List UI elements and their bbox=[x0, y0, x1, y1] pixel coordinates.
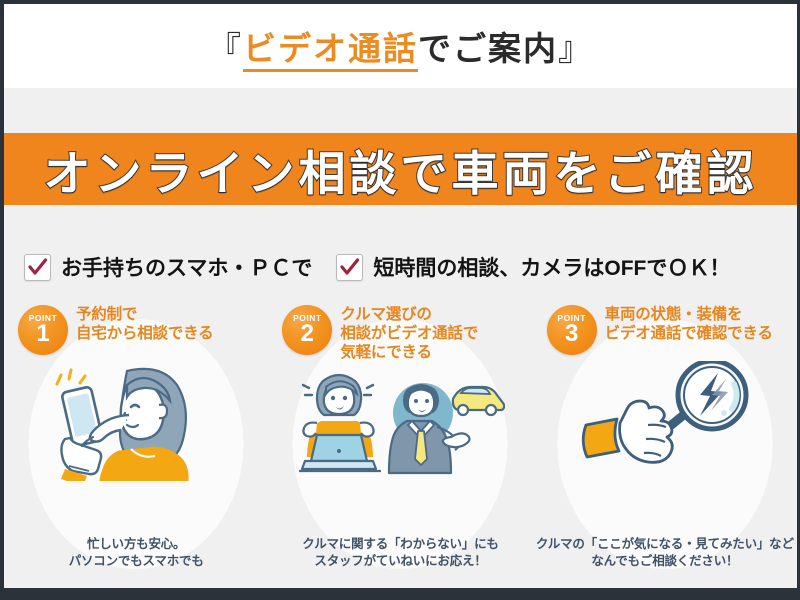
point-column-3: POINT 3 車両の状態・装備を ビデオ通話で確認できる bbox=[533, 303, 797, 573]
check-icon bbox=[339, 257, 360, 278]
check-label-1: お手持ちのスマホ・ＰＣで bbox=[61, 252, 312, 282]
headline-bar: オンライン相談で車両をご確認 bbox=[4, 133, 797, 205]
point-head-2: POINT 2 クルマ選びの 相談がビデオ通話で 気軽にできる bbox=[282, 305, 478, 363]
point-title-1-line-1: 予約制で bbox=[76, 306, 213, 325]
title-tail: でご案内 bbox=[418, 30, 558, 67]
point-title-2-line-3: 気軽にできる bbox=[340, 344, 478, 363]
point-title-3: 車両の状態・装備を ビデオ通話で確認できる bbox=[605, 305, 773, 344]
point-title-3-line-1: 車両の状態・装備を bbox=[605, 306, 773, 325]
point-title-3-line-2: ビデオ通話で確認できる bbox=[605, 325, 773, 344]
point-badge-1: POINT 1 bbox=[18, 305, 68, 355]
point-caption-1-line-1: 忙しい方も安心。 bbox=[4, 536, 268, 554]
woman-with-smartphone-illustration bbox=[31, 359, 241, 481]
title-open-bracket: 『 bbox=[208, 30, 243, 67]
check-label-2: 短時間の相談、カメラはOFFでＯＫ！ bbox=[373, 252, 730, 282]
point-caption-2: クルマに関する「わからない」にも スタッフがていねいにお応え！ bbox=[268, 536, 532, 572]
banner-root: 『ビデオ通話でご案内』 オンライン相談で車両をご確認 お手持ちのスマホ・ＰＣで bbox=[0, 0, 800, 600]
check-item-2: 短時間の相談、カメラはOFFでＯＫ！ bbox=[336, 252, 730, 282]
point-caption-1: 忙しい方も安心。 パソコンでもスマホでも bbox=[4, 536, 268, 572]
point-title-1-line-2: 自宅から相談できる bbox=[76, 325, 213, 344]
point-badge-2: POINT 2 bbox=[282, 305, 332, 355]
point-title-2: クルマ選びの 相談がビデオ通話で 気軽にできる bbox=[340, 305, 478, 363]
main-panel: オンライン相談で車両をご確認 お手持ちのスマホ・ＰＣで 短時間の相談、カメラは bbox=[4, 88, 797, 588]
points-row: POINT 1 予約制で 自宅から相談できる bbox=[4, 303, 797, 573]
title-close-bracket: 』 bbox=[558, 30, 593, 67]
badge-number-1: 1 bbox=[36, 323, 49, 346]
title-band: 『ビデオ通話でご案内』 bbox=[4, 4, 797, 88]
point-caption-1-line-2: パソコンでもスマホでも bbox=[4, 553, 268, 571]
point-column-2: POINT 2 クルマ選びの 相談がビデオ通話で 気軽にできる bbox=[268, 303, 532, 573]
title-highlight: ビデオ通話 bbox=[243, 30, 418, 72]
point-caption-3-line-1: クルマの「ここが気になる・見てみたい」など bbox=[533, 536, 797, 554]
point-title-2-line-1: クルマ選びの bbox=[340, 306, 478, 325]
badge-number-2: 2 bbox=[301, 323, 314, 346]
bottom-edge-band bbox=[0, 588, 800, 600]
headline-text: オンライン相談で車両をご確認 bbox=[44, 135, 758, 204]
check-item-1: お手持ちのスマホ・ＰＣで bbox=[24, 252, 312, 282]
point-caption-3-line-2: なんでもご相談ください！ bbox=[533, 553, 797, 571]
point-title-2-line-2: 相談がビデオ通話で bbox=[340, 325, 478, 344]
badge-number-3: 3 bbox=[565, 323, 578, 346]
point-caption-2-line-2: スタッフがていねいにお応え！ bbox=[268, 553, 532, 571]
check-row: お手持ちのスマホ・ＰＣで 短時間の相談、カメラはOFFでＯＫ！ bbox=[4, 252, 797, 282]
point-badge-3: POINT 3 bbox=[547, 305, 597, 355]
point-title-1: 予約制で 自宅から相談できる bbox=[76, 305, 213, 344]
checkbox-1[interactable] bbox=[24, 254, 51, 281]
point-head-3: POINT 3 車両の状態・装備を ビデオ通話で確認できる bbox=[547, 305, 773, 355]
woman-at-laptop-and-salesman-with-car-illustration bbox=[295, 365, 505, 487]
hand-holding-magnifying-glass-illustration bbox=[560, 361, 770, 483]
point-head-1: POINT 1 予約制で 自宅から相談できる bbox=[18, 305, 213, 355]
point-column-1: POINT 1 予約制で 自宅から相談できる bbox=[4, 303, 268, 573]
checkbox-2[interactable] bbox=[336, 254, 363, 281]
page-title: 『ビデオ通話でご案内』 bbox=[208, 22, 593, 70]
point-caption-3: クルマの「ここが気になる・見てみたい」など なんでもご相談ください！ bbox=[533, 536, 797, 572]
check-icon bbox=[27, 257, 48, 278]
point-caption-2-line-1: クルマに関する「わからない」にも bbox=[268, 536, 532, 554]
